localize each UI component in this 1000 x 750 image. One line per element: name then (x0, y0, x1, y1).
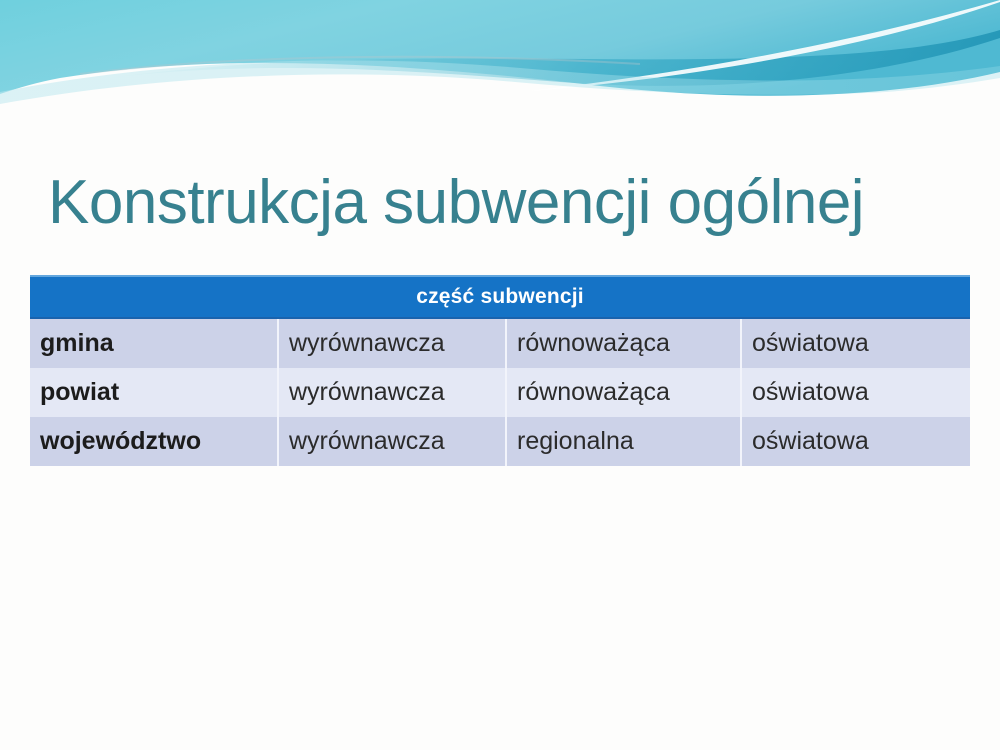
wave-banner-decoration (0, 0, 1000, 120)
table-cell-wojewodztwo-oswiatowa: oświatowa (741, 417, 970, 466)
wave-banner-icon (0, 0, 1000, 120)
table-row: powiat wyrównawcza równoważąca oświatowa (30, 368, 970, 417)
table-cell-powiat-wyrownawcza: wyrównawcza (278, 368, 506, 417)
table-header-cell-czesc-subwencji: część subwencji (30, 276, 970, 318)
table-header: część subwencji (30, 276, 970, 318)
table-cell-powiat-oswiatowa: oświatowa (741, 368, 970, 417)
table-cell-gmina-rownowazaca: równoważąca (506, 318, 741, 368)
slide-canvas: Konstrukcja subwencji ogólnej część subw… (0, 0, 1000, 750)
table-cell-unit-gmina: gmina (30, 318, 278, 368)
table-cell-unit-powiat: powiat (30, 368, 278, 417)
table-row: gmina wyrównawcza równoważąca oświatowa (30, 318, 970, 368)
subvention-table: część subwencji gmina wyrównawcza równow… (30, 275, 970, 466)
table-cell-unit-wojewodztwo: województwo (30, 417, 278, 466)
table-cell-gmina-oswiatowa: oświatowa (741, 318, 970, 368)
table-cell-gmina-wyrownawcza: wyrównawcza (278, 318, 506, 368)
table-cell-wojewodztwo-wyrownawcza: wyrównawcza (278, 417, 506, 466)
slide-title: Konstrukcja subwencji ogólnej (48, 164, 952, 242)
table-row: województwo wyrównawcza regionalna oświa… (30, 417, 970, 466)
table-header-row: część subwencji (30, 276, 970, 318)
table-body: gmina wyrównawcza równoważąca oświatowa … (30, 318, 970, 466)
table-cell-wojewodztwo-regionalna: regionalna (506, 417, 741, 466)
table-cell-powiat-rownowazaca: równoważąca (506, 368, 741, 417)
